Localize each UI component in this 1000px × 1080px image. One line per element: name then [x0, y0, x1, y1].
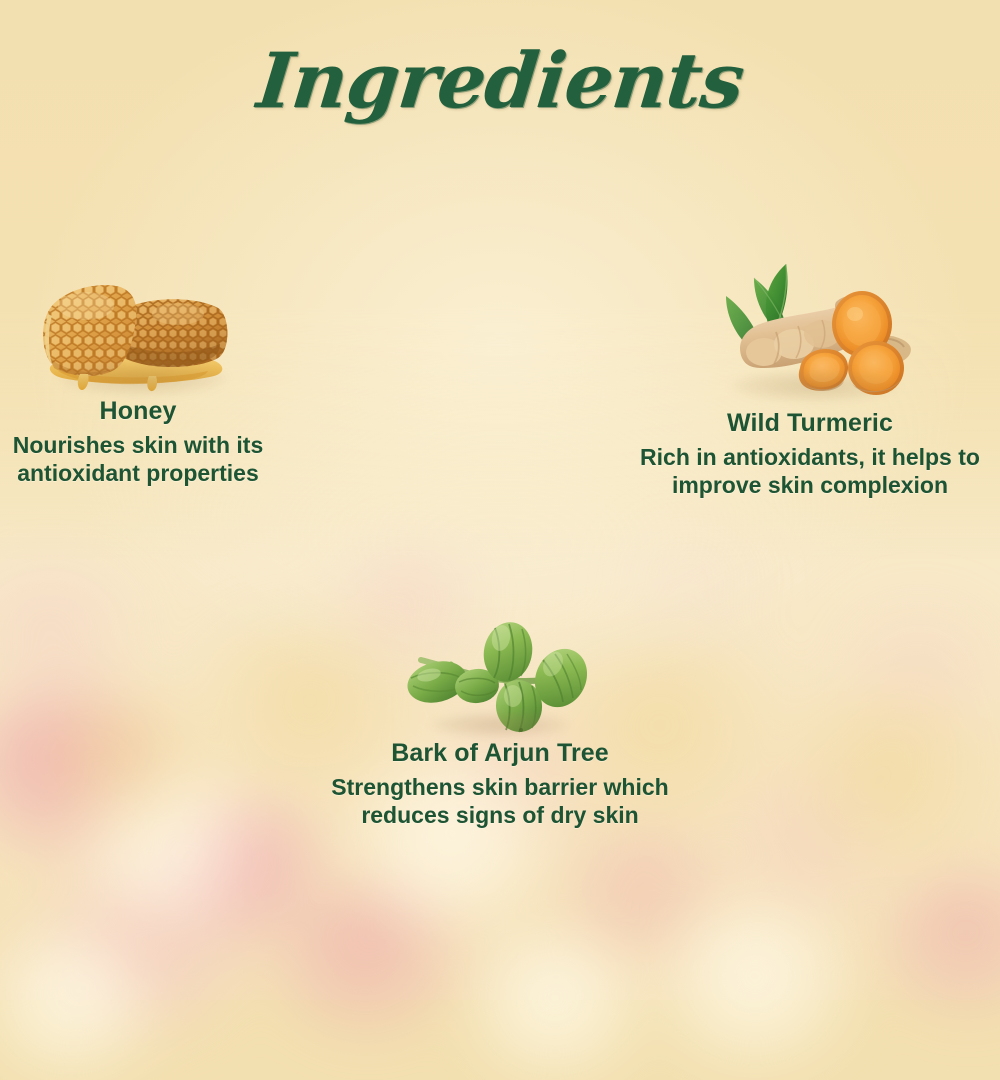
ingredient-description-line: Strengthens skin barrier which	[300, 773, 700, 802]
ingredient-card-bark-of-arjun-tree: Bark of Arjun Tree Strengthens skin barr…	[300, 620, 700, 830]
ingredient-description-line: reduces signs of dry skin	[300, 801, 700, 830]
page-title-text: Ingredients	[253, 36, 747, 125]
ingredient-description: Rich in antioxidants, it helps to improv…	[620, 443, 1000, 501]
turmeric-root-illustration	[690, 240, 930, 410]
ingredient-name: Bark of Arjun Tree	[300, 740, 700, 768]
ingredient-name: Wild Turmeric	[620, 410, 1000, 438]
ingredient-description-line: improve skin complexion	[620, 471, 1000, 500]
ingredient-description-line: Nourishes skin with its	[0, 431, 288, 460]
ingredient-name: Honey	[0, 398, 288, 426]
ingredient-description-line: antioxidant properties	[0, 459, 288, 488]
ingredient-description: Nourishes skin with its antioxidant prop…	[0, 431, 288, 489]
ingredient-description-line: Rich in antioxidants, it helps to	[620, 443, 1000, 472]
ingredient-card-honey: Honey Nourishes skin with its antioxidan…	[0, 258, 288, 488]
ingredient-description: Strengthens skin barrier which reduces s…	[300, 773, 700, 831]
honeycomb-illustration	[28, 258, 248, 398]
arjun-pods-illustration	[385, 620, 615, 740]
page-title: Ingredients	[0, 36, 1000, 125]
ingredient-card-wild-turmeric: Wild Turmeric Rich in antioxidants, it h…	[620, 240, 1000, 500]
